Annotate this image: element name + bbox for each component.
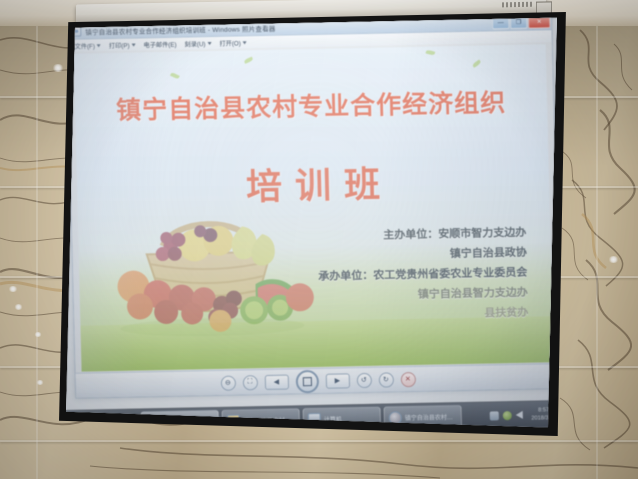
credit-value: 镇宁自治县政协 bbox=[450, 246, 527, 261]
roller-brand-label bbox=[502, 2, 532, 8]
menu-email[interactable]: 电子邮件(E) bbox=[140, 39, 179, 51]
credit-value: 农工党贵州省委农业专业委员会 bbox=[373, 266, 527, 282]
leaf-decoration bbox=[426, 50, 436, 56]
projected-desktop: 镇宁自治县农村专业合作经济组织培训班 - Windows 照片查看器 — ❐ ✕… bbox=[63, 16, 563, 430]
wall-highlight bbox=[14, 304, 23, 310]
leaf-decoration bbox=[472, 59, 482, 67]
presentation-slide: 镇宁自治县农村专业合作经济组织 培训班 主办单位：安顺市智力支边办 镇宁自治县政… bbox=[74, 44, 554, 371]
credit-label: 承办单位： bbox=[318, 269, 373, 283]
fruit-basket-illustration bbox=[101, 199, 319, 338]
credit-label: 主办单位： bbox=[383, 227, 438, 241]
photo-viewer-window[interactable]: 镇宁自治县农村专业合作经济组织培训班 - Windows 照片查看器 — ❐ ✕… bbox=[66, 16, 561, 399]
credit-value: 安顺市智力支边办 bbox=[438, 226, 526, 241]
projection-screen: 镇宁自治县农村专业合作经济组织培训班 - Windows 照片查看器 — ❐ ✕… bbox=[63, 16, 563, 430]
chevron-down-icon bbox=[131, 44, 135, 47]
chevron-down-icon bbox=[243, 41, 247, 44]
menu-print[interactable]: 打印(P) bbox=[106, 39, 139, 51]
wall-highlight bbox=[34, 332, 42, 337]
delete-button[interactable]: ✕ bbox=[400, 371, 415, 386]
fit-to-window-button[interactable]: ⛶ bbox=[242, 375, 257, 390]
menu-email-label: 电子邮件(E) bbox=[143, 40, 176, 50]
credit-value: 县扶贫办 bbox=[484, 306, 528, 320]
menu-open[interactable]: 打开(O) bbox=[216, 37, 250, 49]
network-icon[interactable] bbox=[503, 411, 512, 420]
wall-highlight bbox=[52, 64, 64, 72]
menu-open-label: 打开(O) bbox=[219, 38, 241, 47]
tile-seam bbox=[596, 0, 598, 479]
volume-icon[interactable] bbox=[516, 411, 523, 419]
menu-file-label: 文件(F) bbox=[75, 41, 95, 50]
menu-burn[interactable]: 刻录(U) bbox=[181, 38, 214, 50]
media-icon bbox=[389, 411, 402, 424]
play-slideshow-button[interactable] bbox=[295, 369, 319, 392]
slide-credits: 主办单位：安顺市智力支边办 镇宁自治县政协 承办单位：农工党贵州省委农业专业委员… bbox=[317, 223, 528, 327]
slide-heading-line2: 培训班 bbox=[76, 152, 549, 213]
photo-viewer-canvas[interactable]: 镇宁自治县农村专业合作经济组织 培训班 主办单位：安顺市智力支边办 镇宁自治县政… bbox=[68, 42, 560, 374]
clock-time: 8:57 bbox=[538, 406, 549, 414]
menu-file[interactable]: 文件(F) bbox=[72, 40, 105, 52]
menu-print-label: 打印(P) bbox=[109, 41, 130, 50]
menu-burn-label: 刻录(U) bbox=[184, 39, 205, 48]
chevron-down-icon bbox=[97, 44, 101, 47]
credit-value: 镇宁自治县智力支边办 bbox=[418, 286, 528, 301]
action-center-icon[interactable] bbox=[490, 411, 499, 420]
slideshow-icon bbox=[302, 377, 311, 386]
tile-seam bbox=[0, 440, 638, 442]
rotate-counterclockwise-button[interactable]: ↺ bbox=[356, 372, 371, 387]
taskbar-button-label: 镇宁自治县农村… bbox=[405, 412, 453, 422]
tile-seam bbox=[36, 0, 38, 479]
zoom-button[interactable]: ⊖ bbox=[220, 375, 235, 390]
credit-row: 县扶贫办 bbox=[319, 303, 528, 327]
wall-highlight bbox=[8, 286, 18, 292]
leaf-decoration bbox=[244, 57, 254, 64]
wall-highlight bbox=[36, 380, 44, 385]
rotate-clockwise-button[interactable]: ↻ bbox=[378, 372, 393, 387]
wall-highlight bbox=[608, 256, 619, 263]
previous-image-button[interactable]: ◀ bbox=[264, 374, 288, 389]
chevron-down-icon bbox=[207, 42, 211, 45]
leaf-decoration bbox=[170, 72, 180, 80]
next-image-button[interactable]: ▶ bbox=[325, 373, 349, 388]
slide-heading-line1: 镇宁自治县农村专业合作经济组织 bbox=[75, 82, 548, 127]
